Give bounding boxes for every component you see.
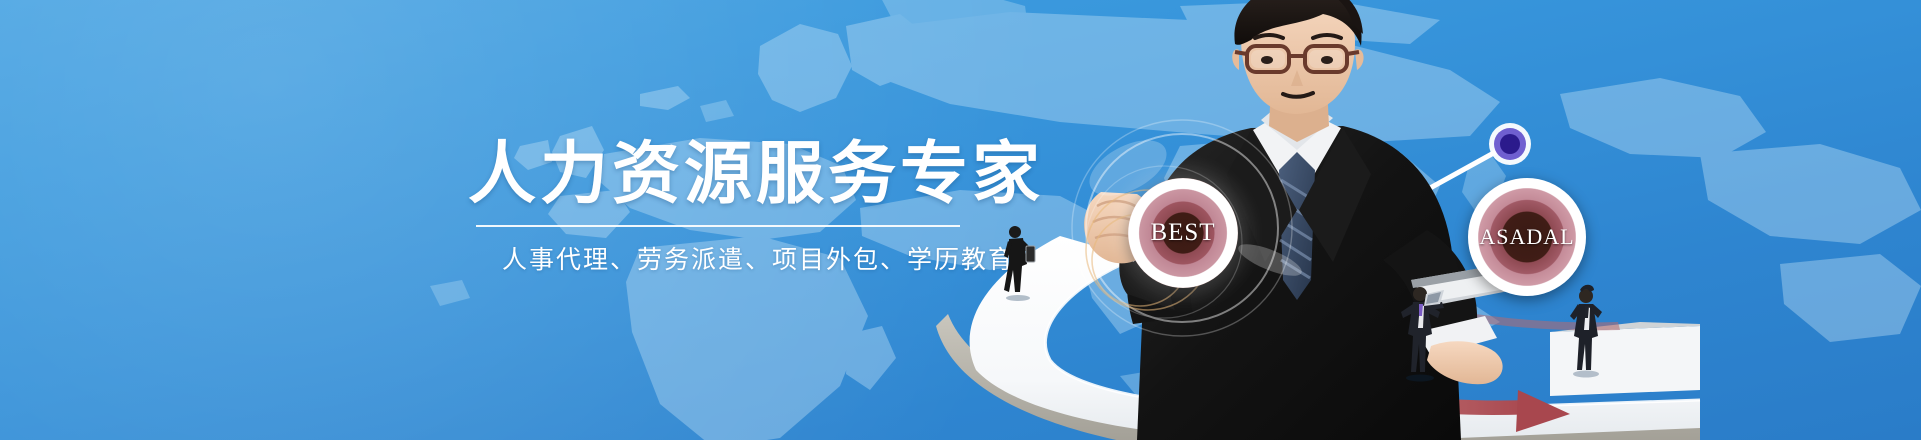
- hero-banner: 人力资源服务专家 人事代理、劳务派遣、项目外包、学历教育: [0, 0, 1921, 440]
- small-figure-lookout: [1564, 282, 1608, 378]
- asadal-badge[interactable]: ASADAL: [1468, 178, 1586, 296]
- small-figure-laptop: [1396, 282, 1444, 382]
- banner-headline: 人力资源服务专家: [468, 118, 1044, 217]
- banner-subline: 人事代理、劳务派遣、项目外包、学历教育: [502, 240, 1015, 276]
- small-figure-briefcase: [1000, 222, 1036, 302]
- asadal-badge-label: ASADAL: [1479, 224, 1574, 250]
- headline-divider: [476, 225, 960, 227]
- best-badge-label: BEST: [1150, 219, 1215, 247]
- best-badge[interactable]: BEST: [1128, 178, 1238, 288]
